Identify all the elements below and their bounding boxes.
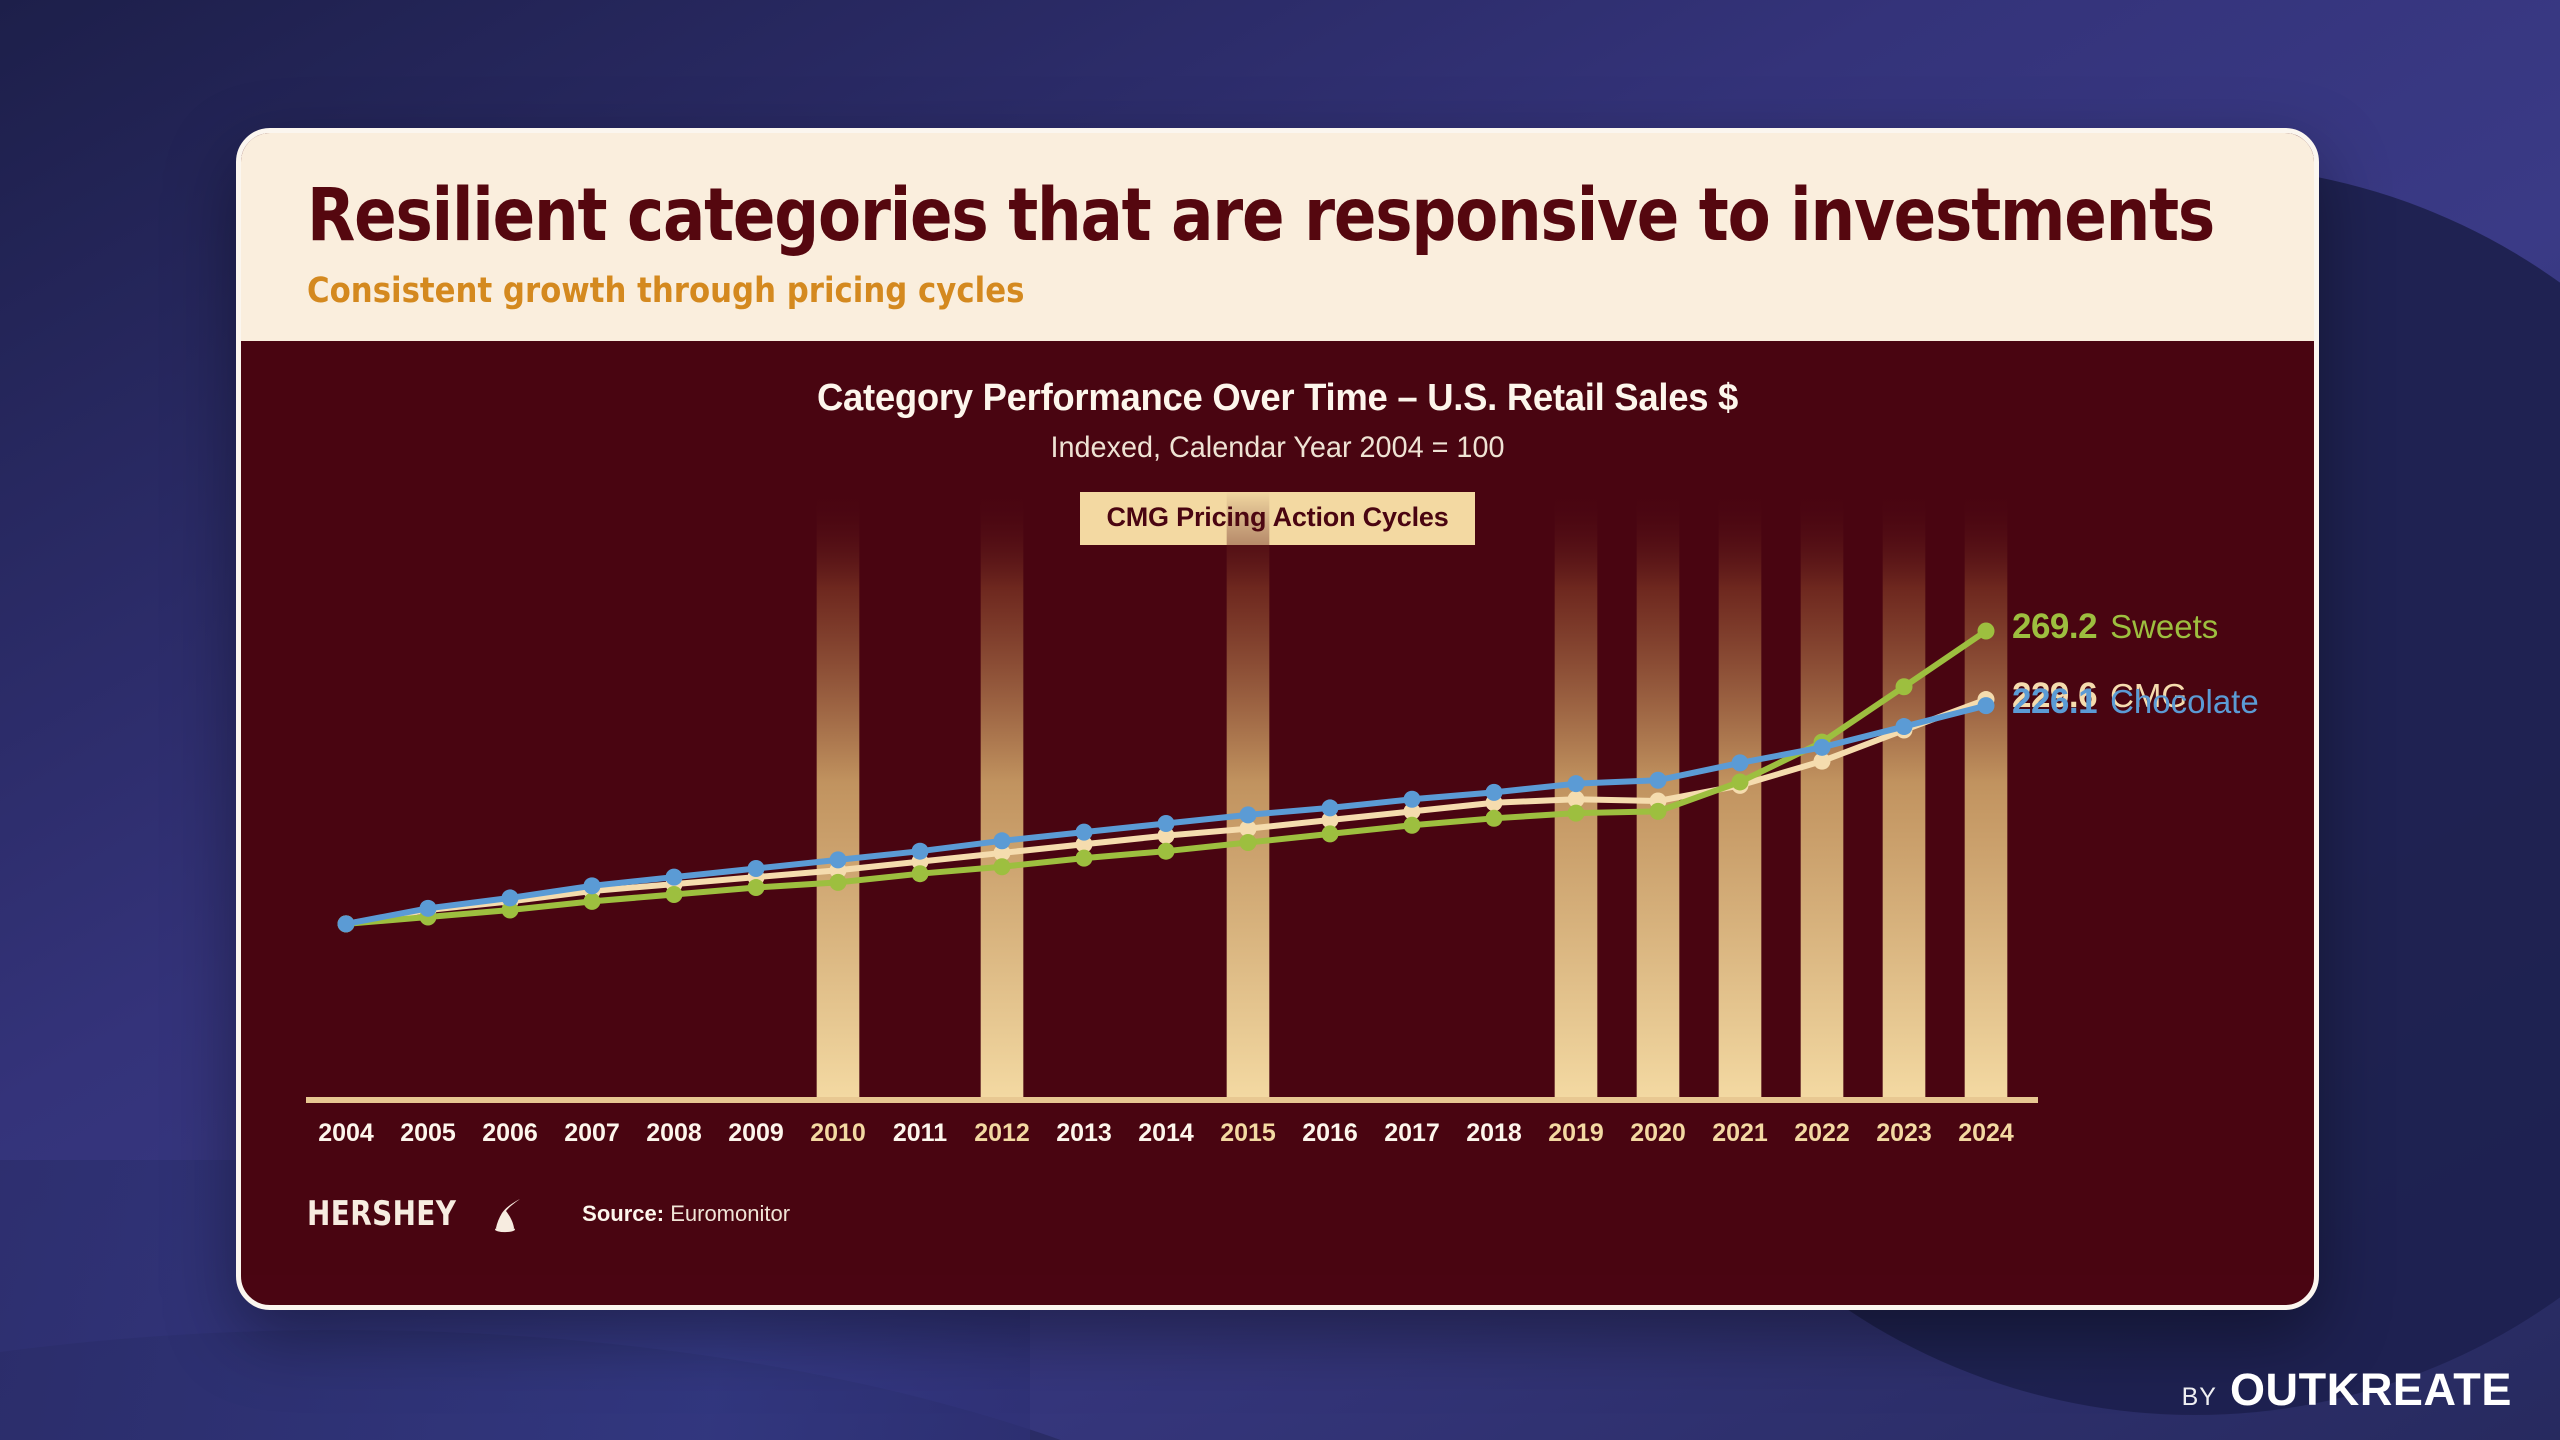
x-tick-2020: 2020 [1630, 1119, 1686, 1147]
point-chocolate-2014 [1158, 815, 1175, 832]
point-sweets-2013 [1076, 850, 1093, 867]
point-sweets-2018 [1486, 810, 1503, 827]
point-chocolate-2013 [1076, 824, 1093, 841]
point-sweets-2021 [1732, 774, 1749, 791]
source-credit: Source: Euromonitor [582, 1201, 790, 1227]
point-sweets-2014 [1158, 843, 1175, 860]
pricing-cycle-bar-2022 [1801, 491, 1844, 1097]
point-sweets-2024 [1978, 623, 1995, 640]
end-label-sweets: 269.2Sweets [2012, 607, 2218, 647]
x-tick-2018: 2018 [1466, 1119, 1522, 1147]
x-tick-2012: 2012 [974, 1119, 1030, 1147]
source-value: Euromonitor [670, 1201, 790, 1226]
end-value-chocolate: 226.1 [2012, 682, 2097, 721]
x-axis-line [306, 1097, 2038, 1103]
point-chocolate-2010 [830, 852, 847, 869]
x-tick-2007: 2007 [564, 1119, 620, 1147]
point-chocolate-2007 [584, 878, 601, 895]
point-sweets-2007 [584, 893, 601, 910]
point-chocolate-2012 [994, 833, 1011, 850]
point-chocolate-2004 [338, 916, 355, 933]
end-label-chocolate: 226.1Chocolate [2012, 682, 2259, 722]
card-footer: HERSHEY Source: Euromonitor [241, 1153, 2314, 1275]
x-tick-2023: 2023 [1876, 1119, 1932, 1147]
point-sweets-2009 [748, 879, 765, 896]
point-sweets-2017 [1404, 817, 1421, 834]
point-chocolate-2016 [1322, 800, 1339, 817]
point-chocolate-2015 [1240, 807, 1257, 824]
x-tick-2005: 2005 [400, 1119, 456, 1147]
card-header: Resilient categories that are responsive… [241, 133, 2314, 341]
slide-card: Resilient categories that are responsive… [236, 128, 2319, 1310]
outkreate-branding: BY OUTKREATE [2182, 1364, 2512, 1416]
x-axis-labels: 2004200520062007200820092010201120122013… [318, 1119, 2014, 1147]
end-value-sweets: 269.2 [2012, 607, 2097, 646]
point-sweets-2011 [912, 866, 929, 883]
x-tick-2017: 2017 [1384, 1119, 1440, 1147]
point-sweets-2020 [1650, 803, 1667, 820]
x-tick-2014: 2014 [1138, 1119, 1194, 1147]
x-tick-2010: 2010 [810, 1119, 866, 1147]
point-chocolate-2020 [1650, 772, 1667, 789]
x-tick-2022: 2022 [1794, 1119, 1850, 1147]
pricing-cycle-bar-2012 [981, 491, 1024, 1097]
point-sweets-2016 [1322, 826, 1339, 843]
point-sweets-2012 [994, 859, 1011, 876]
pricing-cycle-bar-2015 [1227, 491, 1270, 1097]
point-chocolate-2019 [1568, 776, 1585, 793]
end-name-chocolate: Chocolate [2110, 683, 2259, 720]
x-tick-2013: 2013 [1056, 1119, 1112, 1147]
point-chocolate-2021 [1732, 755, 1749, 772]
x-tick-2011: 2011 [893, 1119, 947, 1147]
end-name-sweets: Sweets [2110, 608, 2218, 645]
line-chart-svg: 2004200520062007200820092010201120122013… [241, 341, 2314, 1275]
x-tick-2006: 2006 [482, 1119, 538, 1147]
point-sweets-2010 [830, 874, 847, 891]
point-chocolate-2006 [502, 890, 519, 907]
pricing-cycle-bar-2021 [1719, 491, 1762, 1097]
hershey-wordmark: HERSHEY [307, 1194, 456, 1234]
point-chocolate-2024 [1978, 698, 1995, 715]
pricing-cycle-bar-2024 [1965, 491, 2008, 1097]
page-title: Resilient categories that are responsive… [307, 179, 2033, 253]
x-tick-2021: 2021 [1712, 1119, 1768, 1147]
point-sweets-2023 [1896, 679, 1913, 696]
x-tick-2024: 2024 [1958, 1119, 2014, 1147]
pricing-cycle-bar-2023 [1883, 491, 1926, 1097]
point-chocolate-2005 [420, 900, 437, 917]
source-label: Source: [582, 1201, 664, 1226]
chart-panel: Category Performance Over Time – U.S. Re… [241, 341, 2314, 1275]
point-chocolate-2023 [1896, 719, 1913, 736]
point-chocolate-2017 [1404, 791, 1421, 808]
x-tick-2009: 2009 [728, 1119, 784, 1147]
hershey-kiss-icon [488, 1197, 522, 1233]
point-sweets-2008 [666, 886, 683, 903]
x-tick-2019: 2019 [1548, 1119, 1604, 1147]
outkreate-wordmark: OUTKREATE [2230, 1364, 2512, 1416]
x-tick-2016: 2016 [1302, 1119, 1358, 1147]
point-sweets-2015 [1240, 834, 1257, 851]
pricing-cycle-bar-2010 [817, 491, 860, 1097]
x-tick-2004: 2004 [318, 1119, 374, 1147]
point-chocolate-2011 [912, 843, 929, 860]
page-subtitle: Consistent growth through pricing cycles [307, 271, 2073, 311]
point-chocolate-2009 [748, 860, 765, 877]
point-chocolate-2022 [1814, 739, 1831, 756]
x-tick-2015: 2015 [1220, 1119, 1276, 1147]
point-chocolate-2018 [1486, 784, 1503, 801]
hershey-logo: HERSHEY [307, 1194, 522, 1234]
plot-area: 2004200520062007200820092010201120122013… [241, 341, 2314, 1275]
x-tick-2008: 2008 [646, 1119, 702, 1147]
by-label: BY [2182, 1383, 2217, 1412]
point-chocolate-2008 [666, 869, 683, 886]
point-sweets-2019 [1568, 805, 1585, 822]
